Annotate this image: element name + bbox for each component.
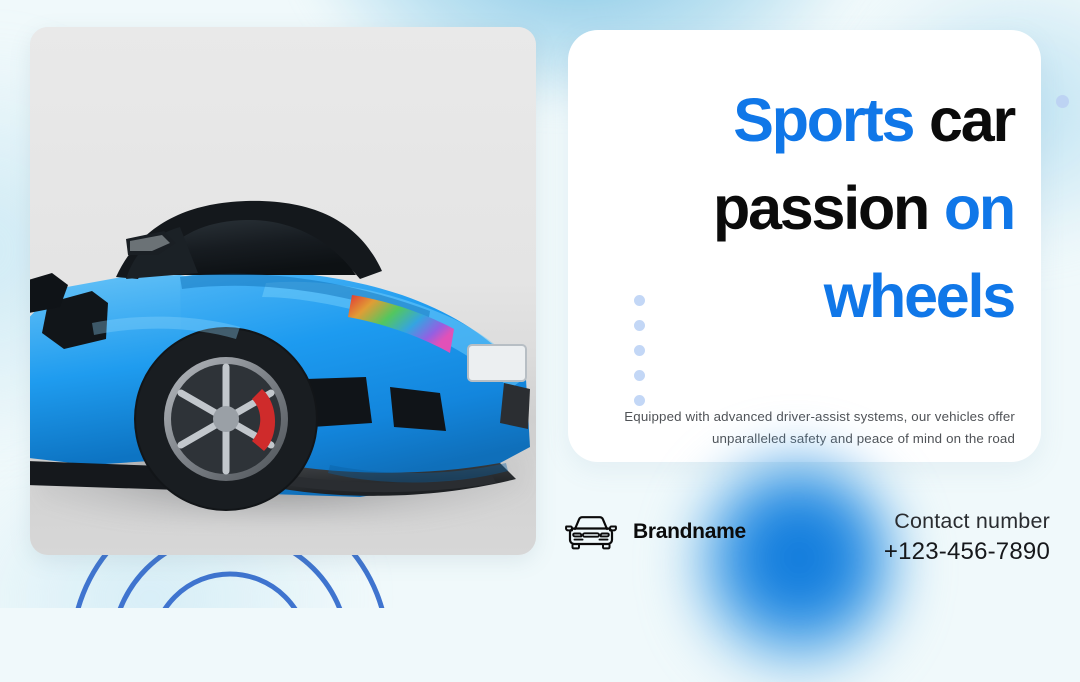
- page-title: Sports car passion on wheels: [594, 76, 1014, 340]
- sports-car-illustration: [30, 27, 536, 555]
- subtitle-text: Equipped with advanced driver-assist sys…: [608, 406, 1015, 450]
- decor-dot-icon: [634, 370, 645, 381]
- contact-block: Contact number +123-456-7890: [884, 506, 1050, 568]
- decorative-dot-column: [634, 295, 645, 406]
- brand-lockup[interactable]: Brandname: [563, 513, 746, 551]
- content-card: Sports car passion on wheels Equipped wi…: [568, 30, 1041, 462]
- brand-name: Brandname: [633, 520, 746, 544]
- decor-dot-icon: [634, 395, 645, 406]
- headline-word-car: car: [929, 86, 1014, 154]
- headline-word-wheels: wheels: [824, 262, 1014, 330]
- decor-dot-icon: [634, 320, 645, 331]
- headline-word-sports: Sports: [733, 86, 913, 154]
- blue-blur-blob-icon: [690, 452, 900, 682]
- hero-photo: [30, 27, 536, 555]
- decor-dot-icon: [634, 345, 645, 356]
- headline-word-passion: passion: [713, 174, 928, 242]
- car-front-icon: [563, 513, 619, 551]
- decor-dot-icon: [634, 295, 645, 306]
- edge-decor-dot-icon: [1056, 95, 1069, 108]
- contact-label: Contact number: [884, 506, 1050, 536]
- headline-word-on: on: [944, 174, 1014, 242]
- contact-phone[interactable]: +123-456-7890: [884, 536, 1050, 568]
